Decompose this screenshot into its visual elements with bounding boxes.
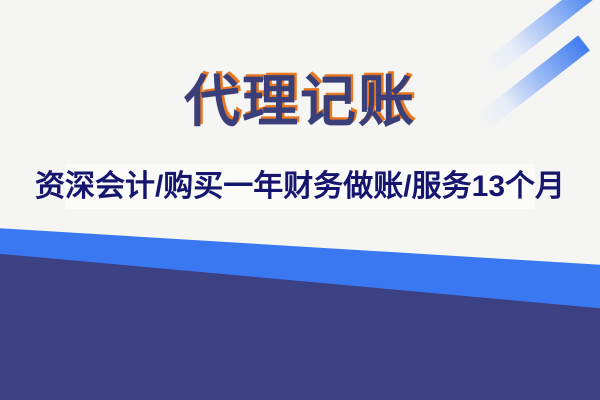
angled-navy-band bbox=[0, 240, 600, 400]
banner-subtitle: 资深会计/购买一年财务做账/服务13个月 bbox=[0, 166, 600, 208]
banner-headline: 代理记账 bbox=[0, 68, 600, 136]
promo-banner: 代理记账 资深会计/购买一年财务做账/服务13个月 bbox=[0, 0, 600, 400]
angled-blue-band bbox=[0, 218, 600, 400]
